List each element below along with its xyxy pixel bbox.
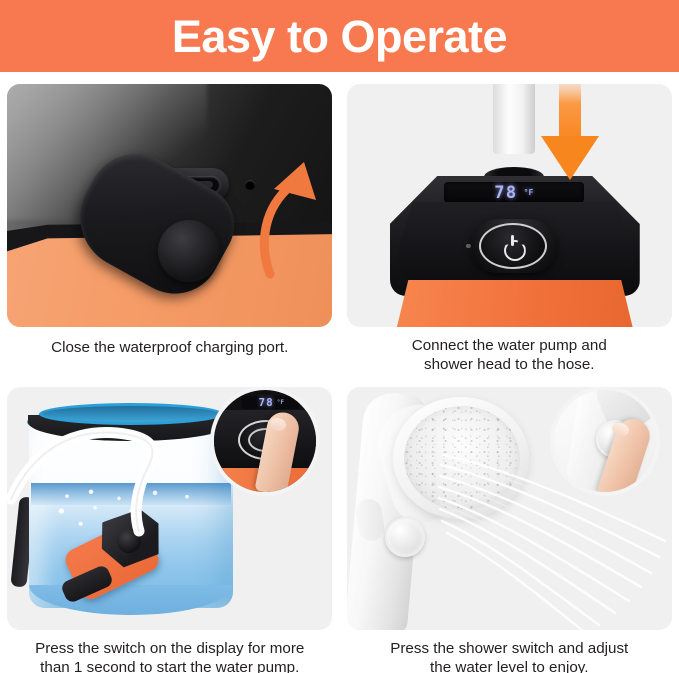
photo-charging-port xyxy=(7,84,332,327)
pump-body-orange xyxy=(394,280,636,327)
caption-connect-hose: Connect the water pump and shower head t… xyxy=(354,336,664,375)
step-panel-shower-switch: Press the shower switch and adjust the w… xyxy=(340,375,679,673)
step-panel-start-pump: 78 °F Press the switch on the display fo… xyxy=(0,375,340,673)
led-display-icon: 78 °F xyxy=(444,182,584,203)
power-button-icon[interactable] xyxy=(479,223,547,269)
step-panel-connect-hose: 78 °F xyxy=(340,72,679,375)
photo-shower-head xyxy=(347,387,672,630)
caption-line-2: shower head to the hose. xyxy=(354,355,664,374)
page-title: Easy to Operate xyxy=(172,14,507,59)
rubber-flap-knob xyxy=(158,220,220,282)
photo-bucket-pump: 78 °F xyxy=(7,387,332,630)
caption-line-1: Press the switch on the display for more xyxy=(15,639,325,658)
step-panel-close-charging-port: Close the waterproof charging port. xyxy=(0,72,340,375)
inset-callout-shower-switch xyxy=(554,390,656,492)
caption-line-1: Connect the water pump and xyxy=(354,336,664,355)
infographic-page: Easy to Operate Close the waterproof cha… xyxy=(0,0,679,673)
bucket-base xyxy=(29,585,233,615)
display-unit: °F xyxy=(277,399,284,406)
caption-close-charging-port: Close the waterproof charging port. xyxy=(15,338,325,357)
caption-line-2: the water level to enjoy. xyxy=(354,658,664,673)
caption-start-pump: Press the switch on the display for more… xyxy=(15,639,325,673)
display-unit: °F xyxy=(524,189,534,197)
caption-line-1: Press the shower switch and adjust xyxy=(354,639,664,658)
hose-icon xyxy=(493,84,535,154)
header-banner: Easy to Operate xyxy=(0,0,679,72)
steps-grid: Close the waterproof charging port. 78 °… xyxy=(0,72,679,673)
caption-shower-switch: Press the shower switch and adjust the w… xyxy=(354,639,664,673)
inset-callout-power-button: 78 °F xyxy=(214,390,316,492)
display-value: 78 xyxy=(259,396,274,409)
curved-arrow-icon xyxy=(252,156,332,281)
display-value: 78 xyxy=(494,183,517,203)
photo-connect-hose: 78 °F xyxy=(347,84,672,327)
led-display-icon: 78 °F xyxy=(242,396,300,409)
down-arrow-icon xyxy=(539,84,601,184)
caption-line-2: than 1 second to start the water pump. xyxy=(15,658,325,673)
power-symbol-icon xyxy=(503,235,523,257)
shower-switch-icon[interactable] xyxy=(385,517,425,557)
hose-icon xyxy=(7,407,237,567)
